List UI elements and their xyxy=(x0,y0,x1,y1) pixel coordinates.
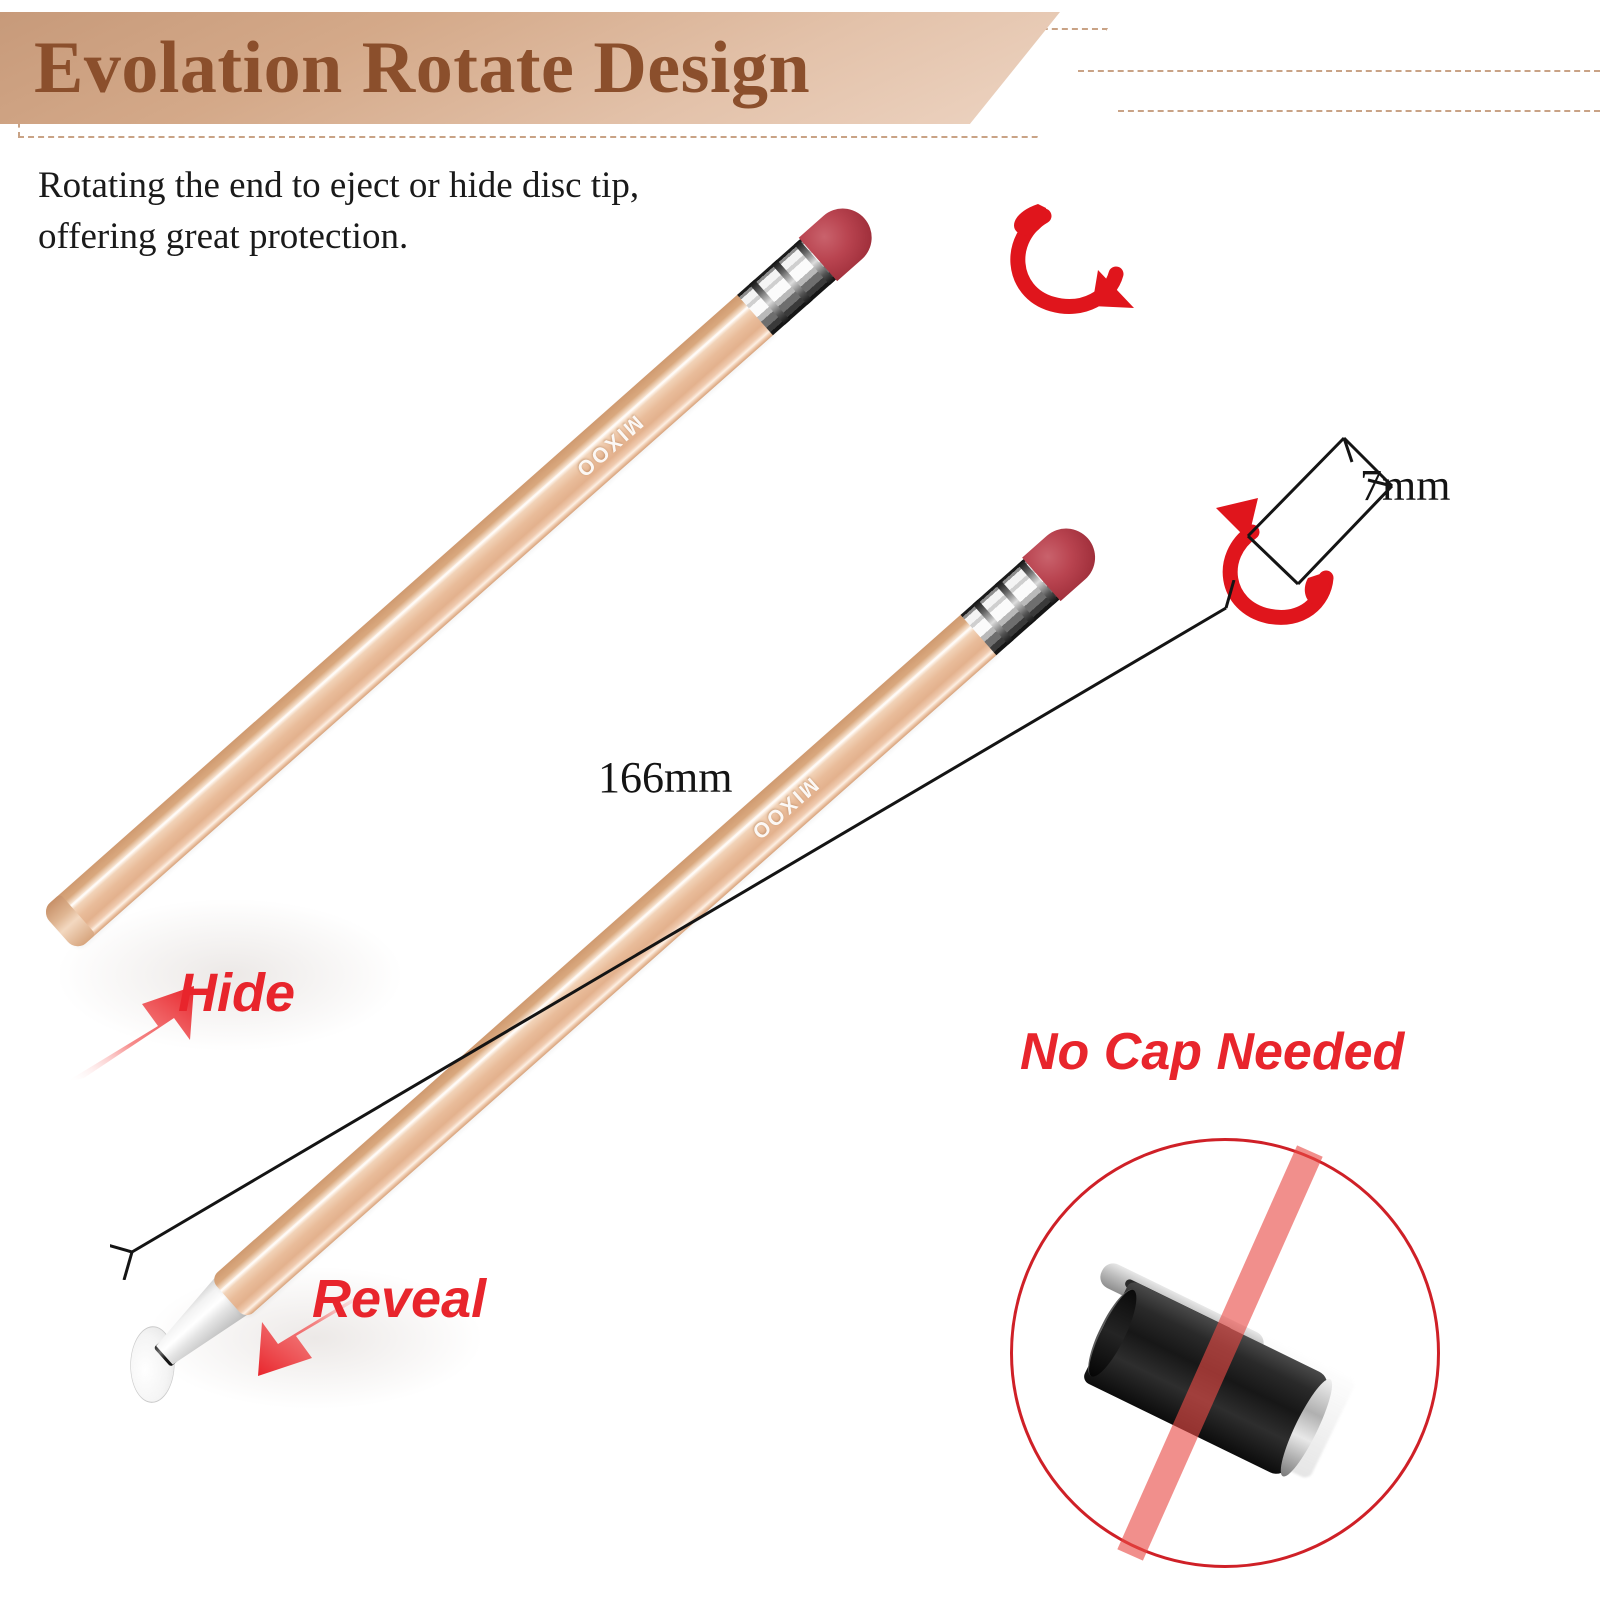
subtitle-line-2: offering great protection. xyxy=(38,211,858,262)
no-cap-badge xyxy=(1010,1138,1440,1568)
no-cap-label: No Cap Needed xyxy=(1020,1022,1404,1082)
decorative-dash-line-bottom xyxy=(1118,110,1600,112)
diameter-dimension-bracket xyxy=(1232,428,1412,608)
infographic-canvas: Evolation Rotate Design Rotating the end… xyxy=(0,0,1600,1600)
page-title: Evolation Rotate Design xyxy=(34,31,810,105)
subtitle-line-1: Rotating the end to eject or hide disc t… xyxy=(38,160,858,211)
subtitle-text: Rotating the end to eject or hide disc t… xyxy=(38,160,858,262)
rotate-arrow-hide-pen xyxy=(998,178,1158,338)
diameter-label: 7mm xyxy=(1360,460,1450,511)
decorative-dash-line-top xyxy=(1078,70,1600,72)
header-banner: Evolation Rotate Design xyxy=(0,12,1060,124)
length-label: 166mm xyxy=(598,752,732,803)
